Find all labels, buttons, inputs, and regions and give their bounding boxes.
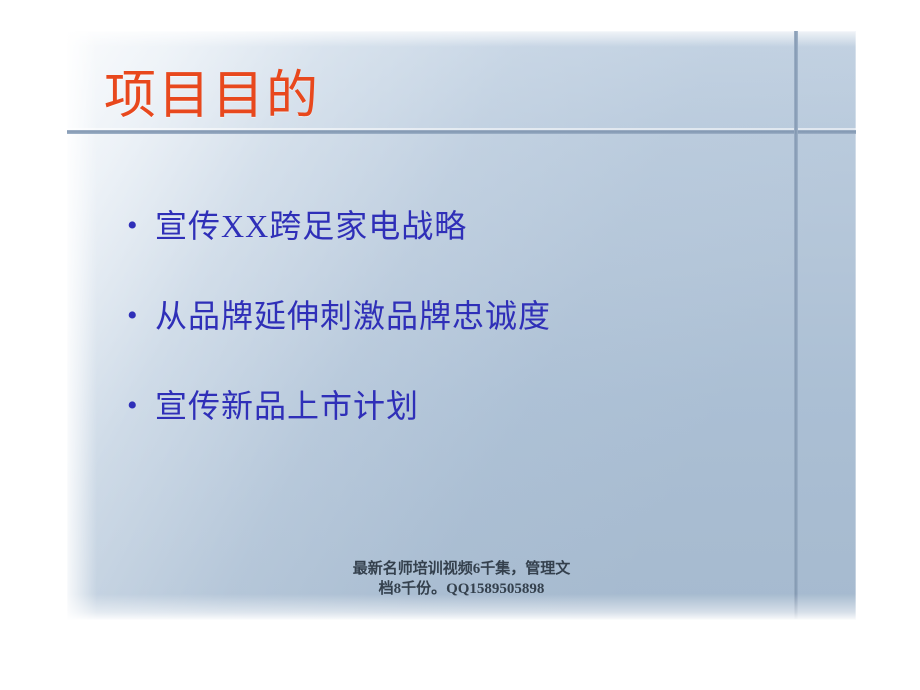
bullet-list: • 宣传XX跨足家电战略 • 从品牌延伸刺激品牌忠诚度 • 宣传新品上市计划 [127,206,767,476]
list-item: • 宣传XX跨足家电战略 [127,206,767,246]
slide-top-fade [67,31,856,47]
title-divider-line [67,130,856,134]
bullet-text: 宣传新品上市计划 [155,386,419,426]
slide-title: 项目目的 [104,69,320,125]
footer-watermark: 最新名师培训视频6千集，管理文 档8千份。QQ1589505898 [67,559,856,599]
list-item: • 从品牌延伸刺激品牌忠诚度 [127,296,767,336]
footer-line-1: 最新名师培训视频6千集，管理文 [67,559,856,579]
bullet-text: 从品牌延伸刺激品牌忠诚度 [155,296,551,336]
slide-left-fade [67,31,97,620]
bullet-text: 宣传XX跨足家电战略 [155,206,467,246]
list-item: • 宣传新品上市计划 [127,386,767,426]
slide-canvas-page: 项目目的 • 宣传XX跨足家电战略 • 从品牌延伸刺激品牌忠诚度 • 宣传新品上… [0,0,920,690]
bullet-point-icon: • [127,296,155,336]
presentation-slide: 项目目的 • 宣传XX跨足家电战略 • 从品牌延伸刺激品牌忠诚度 • 宣传新品上… [67,31,856,620]
bullet-point-icon: • [127,386,155,426]
bullet-point-icon: • [127,206,155,246]
footer-line-2: 档8千份。QQ1589505898 [67,579,856,599]
right-accent-line [794,31,798,619]
